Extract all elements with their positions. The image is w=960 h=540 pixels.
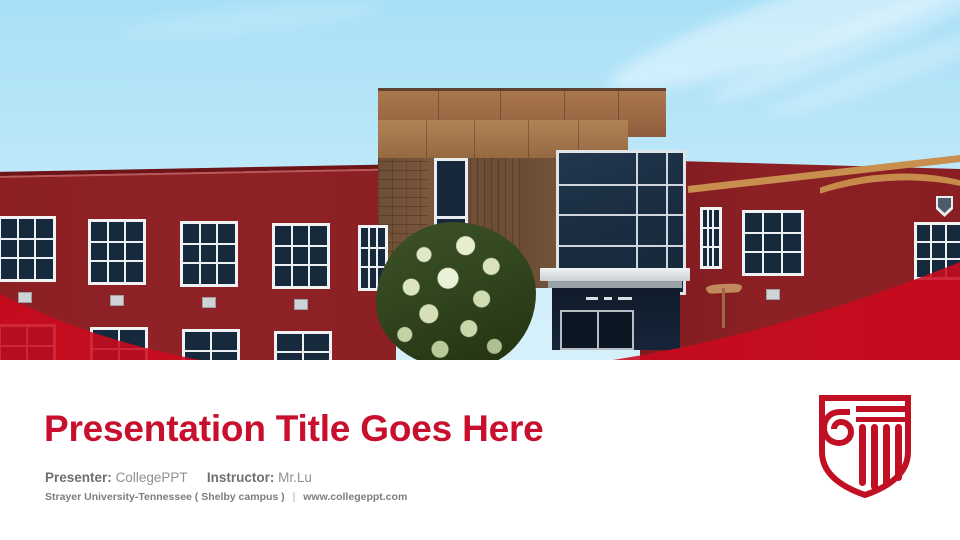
building-window: [742, 210, 804, 276]
instructor-label: Instructor:: [207, 470, 275, 485]
tower-window-mullion: [434, 216, 468, 219]
entrance-signage: [604, 297, 612, 300]
entrance-canopy: [540, 268, 690, 281]
light-pole: [722, 288, 725, 328]
wall-vent: [110, 295, 124, 306]
entrance-doors: [560, 310, 634, 350]
cloud-wisp: [119, 0, 380, 48]
website-url[interactable]: www.collegeppt.com: [303, 491, 407, 503]
building-window: [700, 207, 722, 269]
presenter-value: CollegePPT: [116, 470, 188, 485]
instructor-value: Mr.Lu: [278, 470, 312, 485]
building-window: [914, 222, 960, 280]
presentation-title-slide: Presentation Title Goes Here Presenter: …: [0, 0, 960, 540]
presenter-label: Presenter:: [45, 470, 112, 485]
building-window: [88, 219, 146, 285]
entrance-signage: [618, 297, 632, 300]
canopy-shadow: [548, 281, 682, 288]
organization-name: Strayer University-Tennessee ( Shelby ca…: [45, 491, 285, 503]
building-window: [272, 223, 330, 289]
wall-vent: [294, 299, 308, 310]
campus-photo: [0, 0, 960, 370]
organization-meta-line: Strayer University-Tennessee ( Shelby ca…: [45, 491, 407, 503]
entrance-signage: [586, 297, 598, 300]
wall-vent: [766, 289, 780, 300]
presenter-info-line: Presenter: CollegePPT Instructor: Mr.Lu: [45, 470, 312, 485]
building-window: [180, 221, 238, 287]
meta-separator: |: [288, 491, 301, 503]
wall-vent: [18, 292, 32, 303]
strayer-shield-column-logo: [816, 390, 914, 498]
flowering-shrub: [376, 222, 536, 370]
wall-vent: [202, 297, 216, 308]
page-title: Presentation Title Goes Here: [44, 408, 544, 450]
building-window: [0, 216, 56, 282]
